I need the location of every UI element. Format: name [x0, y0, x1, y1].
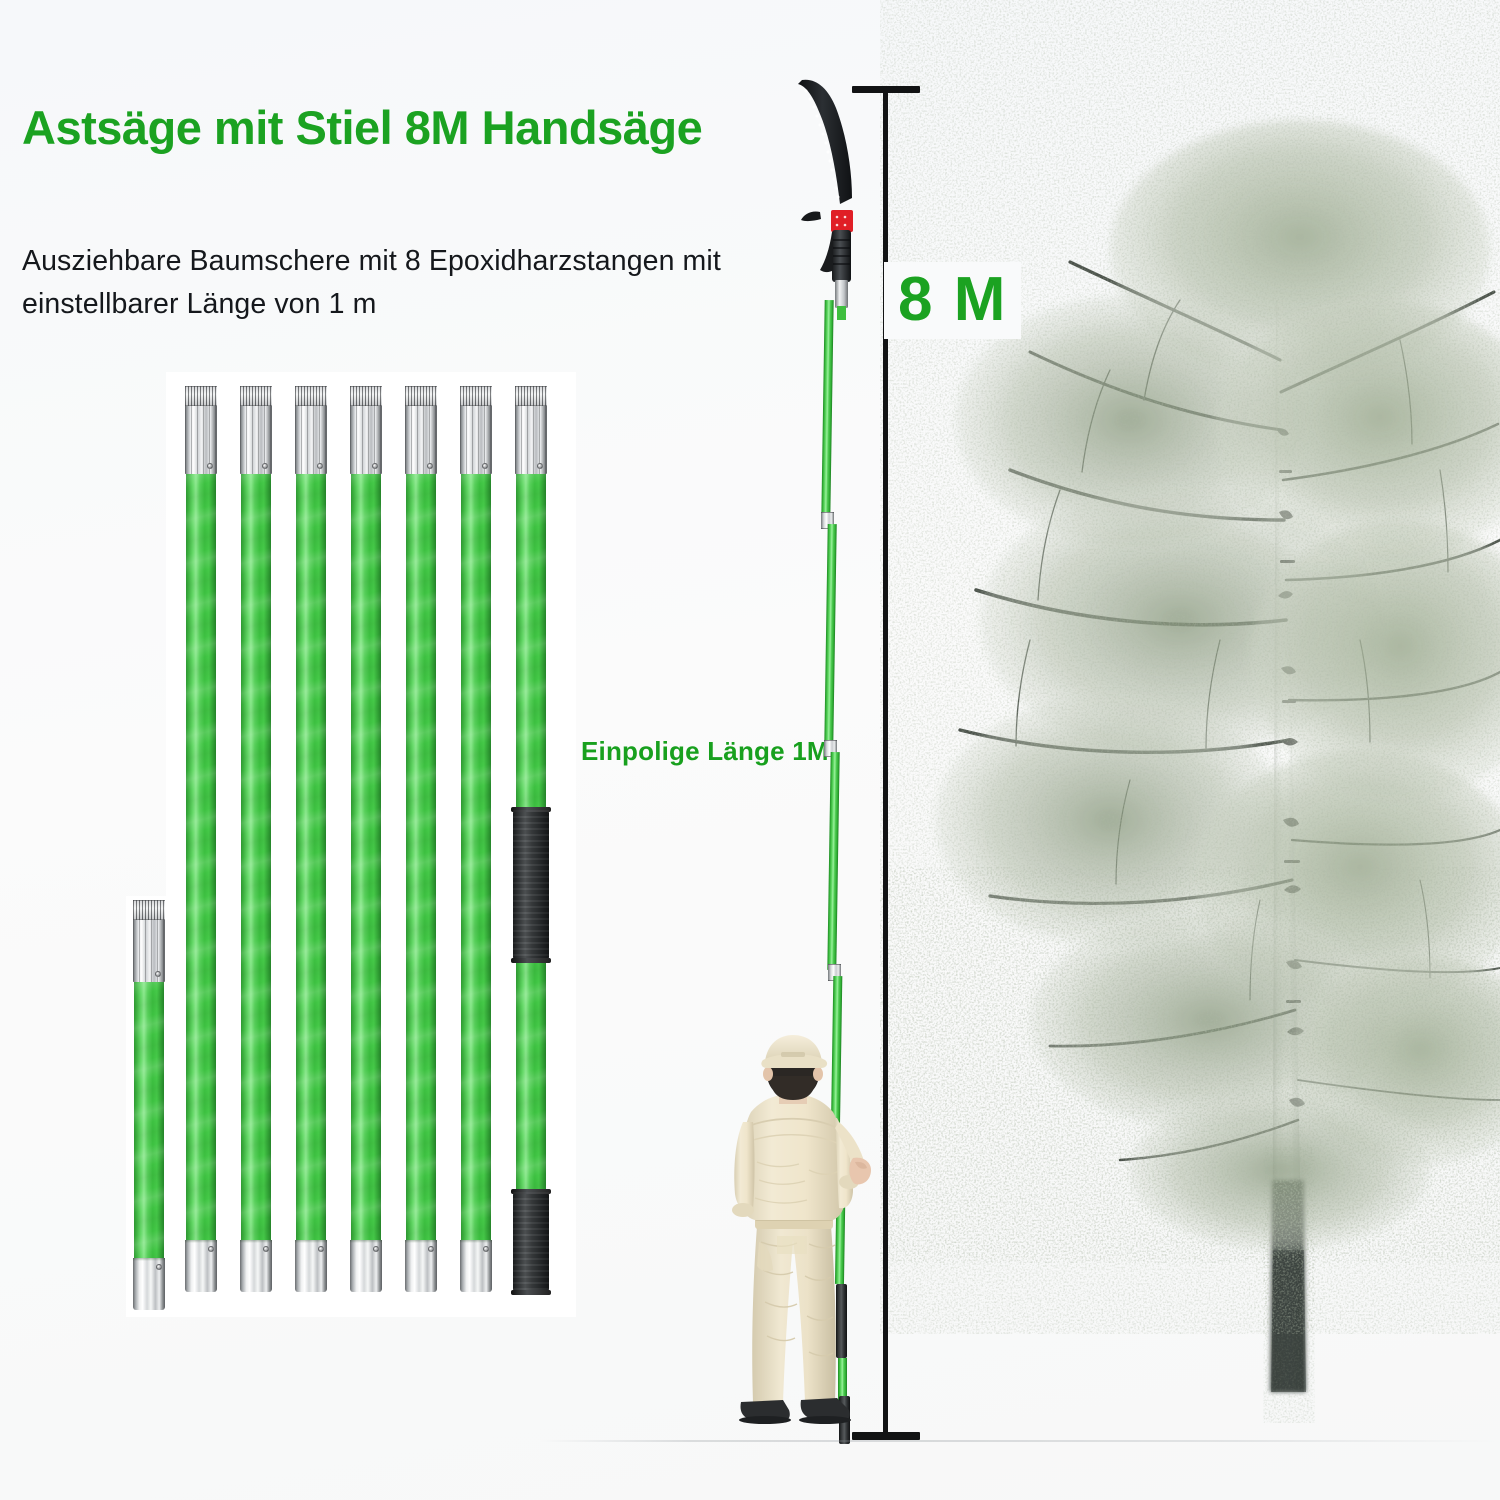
total-length-label: 8 M: [884, 262, 1021, 339]
worker-figure-icon: [713, 1030, 913, 1450]
page-subtitle: Ausziehbare Baumschere mit 8 Epoxidharzs…: [22, 240, 822, 327]
birch-tree-icon: [880, 0, 1500, 1500]
pole-section-8: [134, 900, 164, 1310]
pole-grip-lower: [513, 1192, 549, 1292]
pole-section-3: [296, 386, 326, 1292]
pole-section-6: [461, 386, 491, 1292]
pole-section-7: [516, 386, 546, 1292]
pole-section-2: [241, 386, 271, 1292]
pole-section-1: [186, 386, 216, 1292]
pole-section-5: [406, 386, 436, 1292]
product-infographic: Astsäge mit Stiel 8M Handsäge Ausziehbar…: [0, 0, 1500, 1500]
single-pole-length-label: Einpolige Länge 1M: [581, 736, 829, 767]
ground-shadow: [0, 1440, 1500, 1442]
pole-grip-upper: [513, 810, 549, 960]
pole-section-4: [351, 386, 381, 1292]
headline-block: Astsäge mit Stiel 8M Handsäge: [22, 104, 842, 152]
page-title: Astsäge mit Stiel 8M Handsäge: [22, 104, 842, 152]
